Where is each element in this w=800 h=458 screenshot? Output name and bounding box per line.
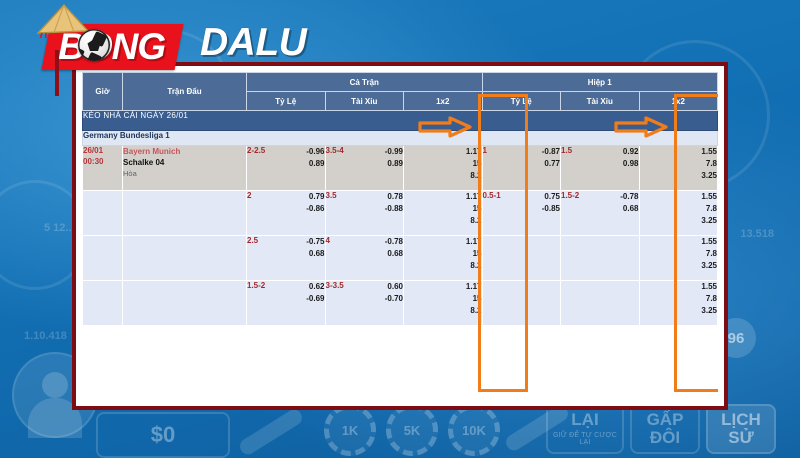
h1-ou-odd-1[interactable]: 0.92 — [623, 146, 639, 158]
logo-text-dalu: DALU — [200, 23, 306, 62]
ft-handicap-odd-1[interactable]: 0.62 — [306, 281, 324, 293]
th-half-1: Hiệp 1 — [482, 73, 718, 92]
odds-table-body: KÈO NHÀ CÁI NGÀY 26/01 Germany Bundeslig… — [83, 111, 718, 326]
cell-ft-over-under[interactable]: 4 -0.78 0.68 — [325, 236, 404, 281]
bg-chip-10k[interactable]: 10K — [448, 404, 500, 456]
ft-1x2-away[interactable]: 8.2 — [404, 305, 482, 317]
ft-ou-odd-2[interactable]: -0.88 — [385, 203, 403, 215]
bg-number-right-1: 13.518 — [740, 228, 774, 240]
cell-ft-handicap[interactable]: 1.5-2 0.62 -0.69 — [247, 281, 326, 326]
ft-1x2-away[interactable]: 8.2 — [404, 170, 482, 182]
cell-h1-over-under[interactable]: 1.5-2 -0.78 0.68 — [561, 191, 640, 236]
th-time: Giờ — [83, 73, 123, 111]
h1-1x2-away[interactable]: 3.25 — [640, 260, 718, 272]
h1-1x2-draw[interactable]: 7.8 — [640, 203, 718, 215]
bg-button-history-line1: LỊCH — [721, 411, 761, 429]
ft-handicap-odd-1[interactable]: -0.96 — [306, 146, 324, 158]
cell-ft-handicap[interactable]: 2.5 -0.75 0.68 — [247, 236, 326, 281]
bg-chip-1k[interactable]: 1K — [324, 404, 376, 456]
ft-ou-odd-1[interactable]: -0.99 — [385, 146, 403, 158]
ft-handicap-line: 2-2.5 — [247, 146, 265, 155]
cell-h1-handicap[interactable] — [482, 281, 561, 326]
ft-1x2-draw[interactable]: 15 — [404, 248, 482, 260]
logo-pole — [55, 50, 59, 96]
cell-ft-over-under[interactable]: 3-3.5 0.60 -0.70 — [325, 281, 404, 326]
cell-match[interactable]: Bayern Munich Schalke 04 Hòa — [123, 146, 247, 191]
cell-h1-handicap[interactable]: 0.5-1 0.75 -0.85 — [482, 191, 561, 236]
h1-1x2-away[interactable]: 3.25 — [640, 215, 718, 227]
th-h1-handicap[interactable]: Tỷ Lệ — [482, 92, 561, 111]
ft-handicap-odd-2[interactable]: 0.89 — [306, 158, 324, 170]
ft-1x2-away[interactable]: 8.2 — [404, 260, 482, 272]
bg-button-double[interactable]: GẤP ĐÔI — [630, 404, 700, 454]
soccer-ball-icon — [78, 29, 110, 61]
team-draw: Hòa — [123, 169, 246, 180]
h1-1x2-draw[interactable]: 7.8 — [640, 158, 718, 170]
league-name[interactable]: Germany Bundesliga 1 — [83, 131, 718, 146]
h1-ou-odd-2[interactable]: 0.98 — [623, 158, 639, 170]
h1-ou-odd-2[interactable]: 0.68 — [620, 203, 638, 215]
ft-handicap-odd-2[interactable]: -0.69 — [306, 293, 324, 305]
th-h1-1x2[interactable]: 1x2 — [639, 92, 718, 111]
bg-number-left-1: 5 12... — [44, 222, 75, 234]
cell-h1-1x2[interactable]: 1.55 7.8 3.25 — [639, 191, 718, 236]
ft-handicap-odd-1[interactable]: 0.79 — [306, 191, 324, 203]
bg-number-left-2: 1.10.418 — [24, 330, 67, 342]
ft-handicap-line: 2 — [247, 191, 251, 200]
h1-1x2-home[interactable]: 1.55 — [640, 281, 718, 293]
h1-handicap-odd-2[interactable]: 0.77 — [542, 158, 560, 170]
cell-ft-handicap[interactable]: 2 0.79 -0.86 — [247, 191, 326, 236]
cell-h1-1x2[interactable]: 1.55 7.8 3.25 — [639, 236, 718, 281]
h1-1x2-draw[interactable]: 7.8 — [640, 248, 718, 260]
th-ft-handicap[interactable]: Tỷ Lệ — [247, 92, 326, 111]
cell-ft-over-under[interactable]: 3.5 0.78 -0.88 — [325, 191, 404, 236]
h1-ou-line: 1.5 — [561, 146, 572, 155]
ft-ou-odd-2[interactable]: 0.89 — [385, 158, 403, 170]
cell-ft-1x2[interactable]: 1.17 15 8.2 — [404, 146, 483, 191]
match-date: 26/01 — [83, 146, 122, 157]
match-time: 00:30 — [83, 157, 122, 168]
ft-ou-line: 3.5-4 — [326, 146, 344, 155]
h1-1x2-home[interactable]: 1.55 — [640, 146, 718, 158]
ft-ou-line: 3-3.5 — [326, 281, 344, 290]
h1-handicap-line: 0.5-1 — [483, 191, 501, 200]
cell-match[interactable] — [123, 236, 247, 281]
team-away: Schalke 04 — [123, 157, 246, 168]
bg-button-repeat-label: LẠI — [571, 411, 598, 429]
h1-handicap-odd-1[interactable]: 0.75 — [542, 191, 560, 203]
ft-ou-odd-2[interactable]: 0.68 — [385, 248, 403, 260]
h1-handicap-line: 1 — [483, 146, 487, 155]
ft-1x2-home[interactable]: 1.17 — [404, 191, 482, 203]
odds-table-head: Giờ Trận Đấu Cả Trận Hiệp 1 Tỷ Lệ Tài Xỉ… — [83, 73, 718, 111]
cell-h1-over-under[interactable] — [561, 281, 640, 326]
bg-button-double-line1: GẤP — [647, 411, 684, 429]
ft-handicap-odd-2[interactable]: -0.86 — [306, 203, 324, 215]
cell-ft-1x2[interactable]: 1.17 15 8.2 — [404, 191, 483, 236]
h1-ou-line: 1.5-2 — [561, 191, 579, 200]
cell-h1-over-under[interactable] — [561, 236, 640, 281]
ft-1x2-draw[interactable]: 15 — [404, 158, 482, 170]
cell-time: 26/01 00:30 — [83, 146, 123, 191]
h1-handicap-odd-2[interactable]: -0.85 — [542, 203, 560, 215]
ft-ou-line: 4 — [326, 236, 330, 245]
bg-balance-display: $0 — [96, 412, 230, 458]
cell-h1-1x2[interactable]: 1.55 7.8 3.25 — [639, 281, 718, 326]
h1-handicap-odd-1[interactable]: -0.87 — [542, 146, 560, 158]
bg-chip-5k[interactable]: 5K — [386, 404, 438, 456]
bg-button-history-line2: SỬ — [728, 429, 753, 447]
cell-ft-over-under[interactable]: 3.5-4 -0.99 0.89 — [325, 146, 404, 191]
cell-match[interactable] — [123, 281, 247, 326]
ft-1x2-home[interactable]: 1.17 — [404, 146, 482, 158]
ft-1x2-away[interactable]: 8.2 — [404, 215, 482, 227]
bg-button-repeat-sub: GIỮ ĐỂ TỰ CƯỢC LẠI — [548, 432, 622, 447]
ft-ou-odd-1[interactable]: 0.78 — [385, 191, 403, 203]
ft-ou-odd-1[interactable]: -0.78 — [385, 236, 403, 248]
ft-1x2-draw[interactable]: 15 — [404, 293, 482, 305]
team-home: Bayern Munich — [123, 146, 246, 157]
league-row: Germany Bundesliga 1 — [83, 131, 718, 146]
odds-table: Giờ Trận Đấu Cả Trận Hiệp 1 Tỷ Lệ Tài Xỉ… — [82, 72, 718, 326]
cell-ft-1x2[interactable]: 1.17 15 8.2 — [404, 281, 483, 326]
h1-1x2-away[interactable]: 3.25 — [640, 170, 718, 182]
cell-h1-handicap[interactable] — [482, 236, 561, 281]
ft-handicap-odd-2[interactable]: 0.68 — [306, 248, 324, 260]
bg-button-double-line2: ĐÔI — [650, 429, 680, 447]
ft-1x2-home[interactable]: 1.17 — [404, 281, 482, 293]
odds-panel: Giờ Trận Đấu Cả Trận Hiệp 1 Tỷ Lệ Tài Xỉ… — [82, 72, 718, 398]
cell-time — [83, 191, 123, 236]
ft-ou-odd-1[interactable]: 0.60 — [385, 281, 403, 293]
cell-ft-1x2[interactable]: 1.17 15 8.2 — [404, 236, 483, 281]
th-match: Trận Đấu — [123, 73, 247, 111]
cell-time — [83, 281, 123, 326]
bg-button-repeat[interactable]: LẠI GIỮ ĐỂ TỰ CƯỢC LẠI — [546, 404, 624, 454]
table-row[interactable]: 2 0.79 -0.86 3.5 0.78 -0.88 — [83, 191, 718, 236]
th-full-match: Cả Trận — [247, 73, 483, 92]
h1-1x2-home[interactable]: 1.55 — [640, 191, 718, 203]
cell-time — [83, 236, 123, 281]
ft-handicap-odd-1[interactable]: -0.75 — [306, 236, 324, 248]
th-h1-over-under[interactable]: Tài Xỉu — [561, 92, 640, 111]
h1-1x2-draw[interactable]: 7.8 — [640, 293, 718, 305]
header-row-top: Giờ Trận Đấu Cả Trận Hiệp 1 — [83, 73, 718, 92]
cell-h1-handicap[interactable]: 1 -0.87 0.77 — [482, 146, 561, 191]
th-ft-1x2[interactable]: 1x2 — [404, 92, 483, 111]
h1-1x2-home[interactable]: 1.55 — [640, 236, 718, 248]
cell-match[interactable] — [123, 191, 247, 236]
ft-handicap-line: 2.5 — [247, 236, 258, 245]
cell-h1-over-under[interactable]: 1.5 0.92 0.98 — [561, 146, 640, 191]
ft-1x2-home[interactable]: 1.17 — [404, 236, 482, 248]
ft-ou-line: 3.5 — [326, 191, 337, 200]
band-title: KÈO NHÀ CÁI NGÀY 26/01 — [83, 111, 718, 131]
cell-ft-handicap[interactable]: 2-2.5 -0.96 0.89 — [247, 146, 326, 191]
th-ft-over-under[interactable]: Tài Xỉu — [325, 92, 404, 111]
ft-1x2-draw[interactable]: 15 — [404, 203, 482, 215]
ft-ou-odd-2[interactable]: -0.70 — [385, 293, 403, 305]
bg-button-history[interactable]: LỊCH SỬ — [706, 404, 776, 454]
ft-handicap-line: 1.5-2 — [247, 281, 265, 290]
table-row[interactable]: 1.5-2 0.62 -0.69 3-3.5 0.60 - — [83, 281, 718, 326]
table-row[interactable]: 26/01 00:30 Bayern Munich Schalke 04 Hòa… — [83, 146, 718, 191]
band-row: KÈO NHÀ CÁI NGÀY 26/01 — [83, 111, 718, 131]
h1-ou-odd-1[interactable]: -0.78 — [620, 191, 638, 203]
screenshot-frame: Giờ Trận Đấu Cả Trận Hiệp 1 Tỷ Lệ Tài Xỉ… — [72, 62, 728, 410]
cell-h1-1x2[interactable]: 1.55 7.8 3.25 — [639, 146, 718, 191]
table-row[interactable]: 2.5 -0.75 0.68 4 -0.78 0.68 — [83, 236, 718, 281]
h1-1x2-away[interactable]: 3.25 — [640, 305, 718, 317]
